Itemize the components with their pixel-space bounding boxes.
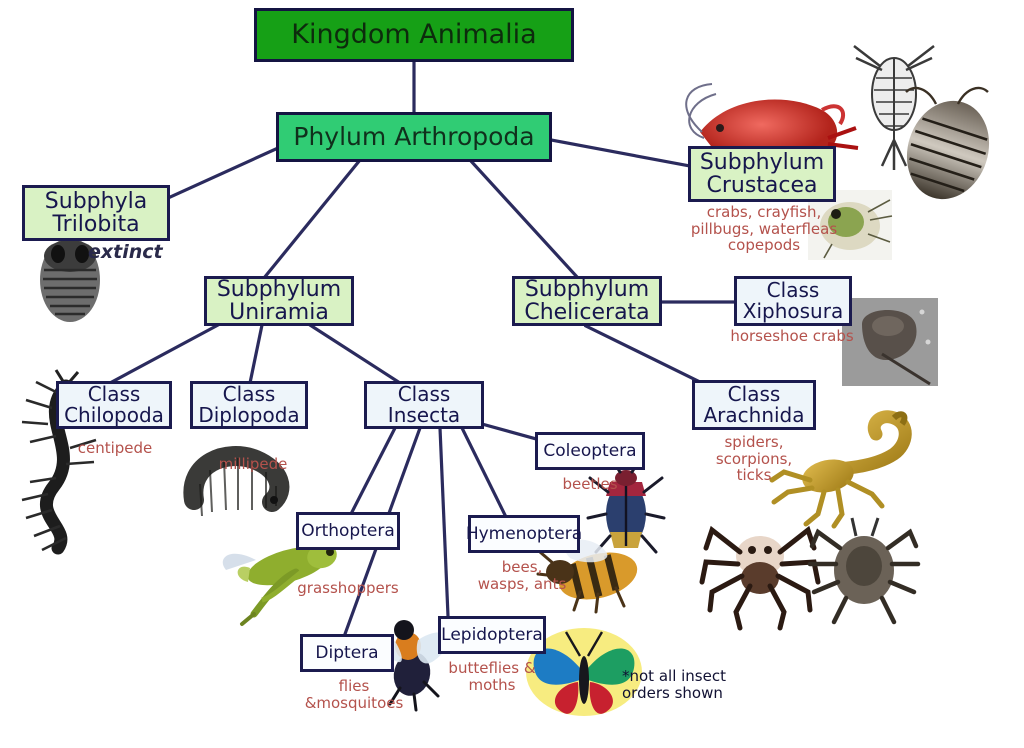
coleoptera-caption: beetles [535,476,645,493]
node-order-orthoptera-label: Orthoptera [301,522,395,540]
node-phylum-arthropoda[interactable]: Phylum Arthropoda [276,112,552,162]
crustacea-caption: crabs, crayfish, pillbugs, waterfleas co… [684,204,844,254]
node-class-diplopoda[interactable]: Class Diplopoda [190,381,308,429]
diptera-caption: flies &mosquitoes [294,678,414,711]
node-subphylum-crustacea[interactable]: Subphylum Crustacea [688,146,836,202]
node-class-arachnida-label: Class Arachnida [703,384,804,426]
node-class-xiphosura-label: Class Xiphosura [743,280,843,322]
footnote-text: *not all insect orders shown [622,668,762,703]
node-order-lepidoptera[interactable]: Lepidoptera [438,616,546,654]
trilobita-extinct-note: extinct [88,241,163,263]
node-class-xiphosura[interactable]: Class Xiphosura [734,276,852,326]
node-kingdom-animalia-label: Kingdom Animalia [291,21,536,50]
node-order-lepidoptera-label: Lepidoptera [441,626,543,644]
chilopoda-caption: centipede [60,440,170,457]
arachnida-caption: spiders, scorpions, ticks [696,434,812,484]
lepidoptera-caption: butteflies & moths [436,660,548,693]
diplopoda-caption: millipede [198,456,308,473]
node-order-coleoptera-label: Coleoptera [543,442,636,460]
node-subphylum-crustacea-label: Subphylum Crustacea [700,151,824,198]
node-class-diplopoda-label: Class Diplopoda [198,384,299,426]
node-class-arachnida[interactable]: Class Arachnida [692,380,816,430]
node-subphylum-chelicerata[interactable]: Subphylum Chelicerata [512,276,662,326]
xiphosura-caption: horseshoe crabs [712,328,872,345]
node-order-diptera-label: Diptera [315,644,378,662]
node-class-chilopoda-label: Class Chilopoda [64,384,164,426]
node-order-hymenoptera-label: Hymenoptera [466,525,582,543]
node-order-diptera[interactable]: Diptera [300,634,394,672]
node-subphyla-trilobita-label: Subphyla Trilobita [45,190,147,237]
node-kingdom-animalia[interactable]: Kingdom Animalia [254,8,574,62]
node-phylum-arthropoda-label: Phylum Arthropoda [293,124,534,151]
node-order-hymenoptera[interactable]: Hymenoptera [468,515,580,553]
node-subphyla-trilobita[interactable]: Subphyla Trilobita [22,185,170,241]
node-order-orthoptera[interactable]: Orthoptera [296,512,400,550]
orthoptera-caption: grasshoppers [288,580,408,597]
node-class-insecta-label: Class Insecta [388,384,460,426]
node-subphylum-uniramia[interactable]: Subphylum Uniramia [204,276,354,326]
node-subphylum-uniramia-label: Subphylum Uniramia [217,278,341,325]
node-order-coleoptera[interactable]: Coleoptera [535,432,645,470]
hymenoptera-caption: bees, wasps, ants [462,559,582,592]
node-class-chilopoda[interactable]: Class Chilopoda [56,381,172,429]
node-subphylum-chelicerata-label: Subphylum Chelicerata [524,278,649,325]
node-class-insecta[interactable]: Class Insecta [364,381,484,429]
diagram-canvas: Kingdom Animalia Phylum Arthropoda Subph… [0,0,1024,748]
